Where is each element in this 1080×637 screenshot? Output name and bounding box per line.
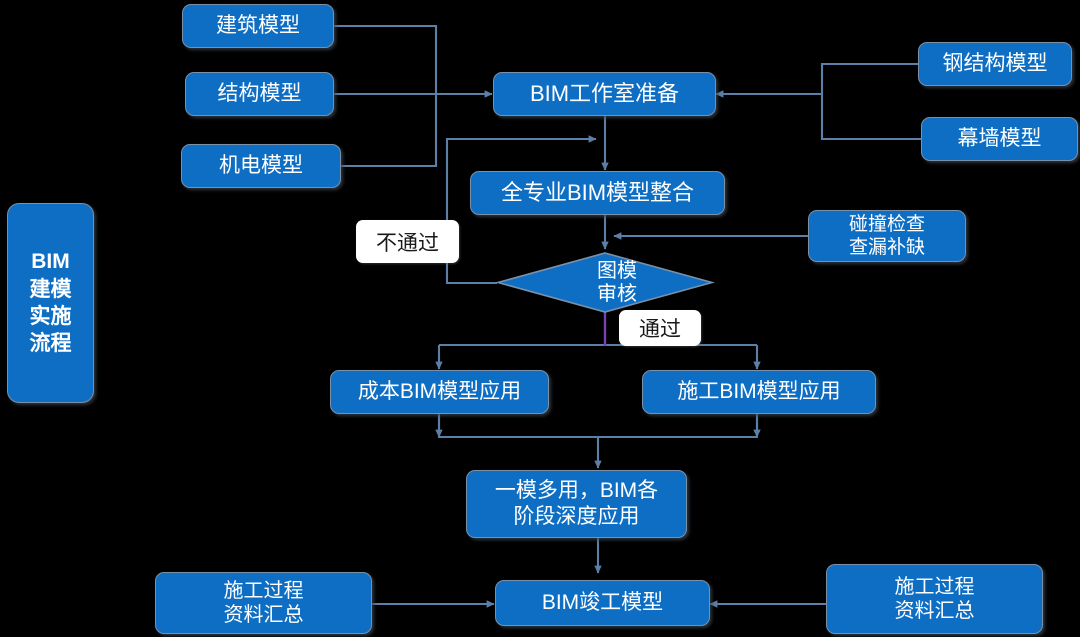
label-fail: 不通过: [356, 220, 459, 263]
node-as-built[interactable]: BIM竣工模型: [495, 580, 710, 626]
node-arch-model[interactable]: 建筑模型: [182, 4, 334, 48]
flowchart-canvas: BIM 建模 实施 流程 建筑模型 结构模型 机电模型 钢结构模型 幕墙模型 B…: [0, 0, 1080, 637]
node-drawing-review[interactable]: 图模 审核: [497, 252, 713, 313]
node-studio-prep[interactable]: BIM工作室准备: [493, 72, 716, 116]
edge-steel-to-junction: [822, 64, 918, 94]
node-struct-model[interactable]: 结构模型: [185, 72, 334, 116]
node-process-data-left[interactable]: 施工过程 资料汇总: [155, 572, 372, 634]
node-mep-model[interactable]: 机电模型: [181, 144, 341, 188]
label-pass: 通过: [619, 310, 701, 346]
edge-mep-to-junction: [341, 94, 436, 166]
edge-curtain-to-junction: [822, 94, 921, 139]
edge-arch-to-junction: [334, 26, 436, 94]
node-process-data-right[interactable]: 施工过程 资料汇总: [826, 564, 1043, 634]
edge-apps-merge-bar: [439, 414, 757, 437]
node-cost-bim[interactable]: 成本BIM模型应用: [330, 370, 549, 414]
node-multi-use[interactable]: 一模多用，BIM各 阶段深度应用: [466, 470, 687, 538]
decision-diamond-shape: [498, 253, 712, 312]
node-steel-model[interactable]: 钢结构模型: [918, 42, 1072, 86]
title-block: BIM 建模 实施 流程: [7, 203, 94, 403]
node-construction-bim[interactable]: 施工BIM模型应用: [642, 370, 876, 414]
node-full-integration[interactable]: 全专业BIM模型整合: [470, 171, 725, 215]
node-curtain-model[interactable]: 幕墙模型: [921, 117, 1078, 161]
node-clash-check[interactable]: 碰撞检查 查漏补缺: [808, 210, 966, 262]
